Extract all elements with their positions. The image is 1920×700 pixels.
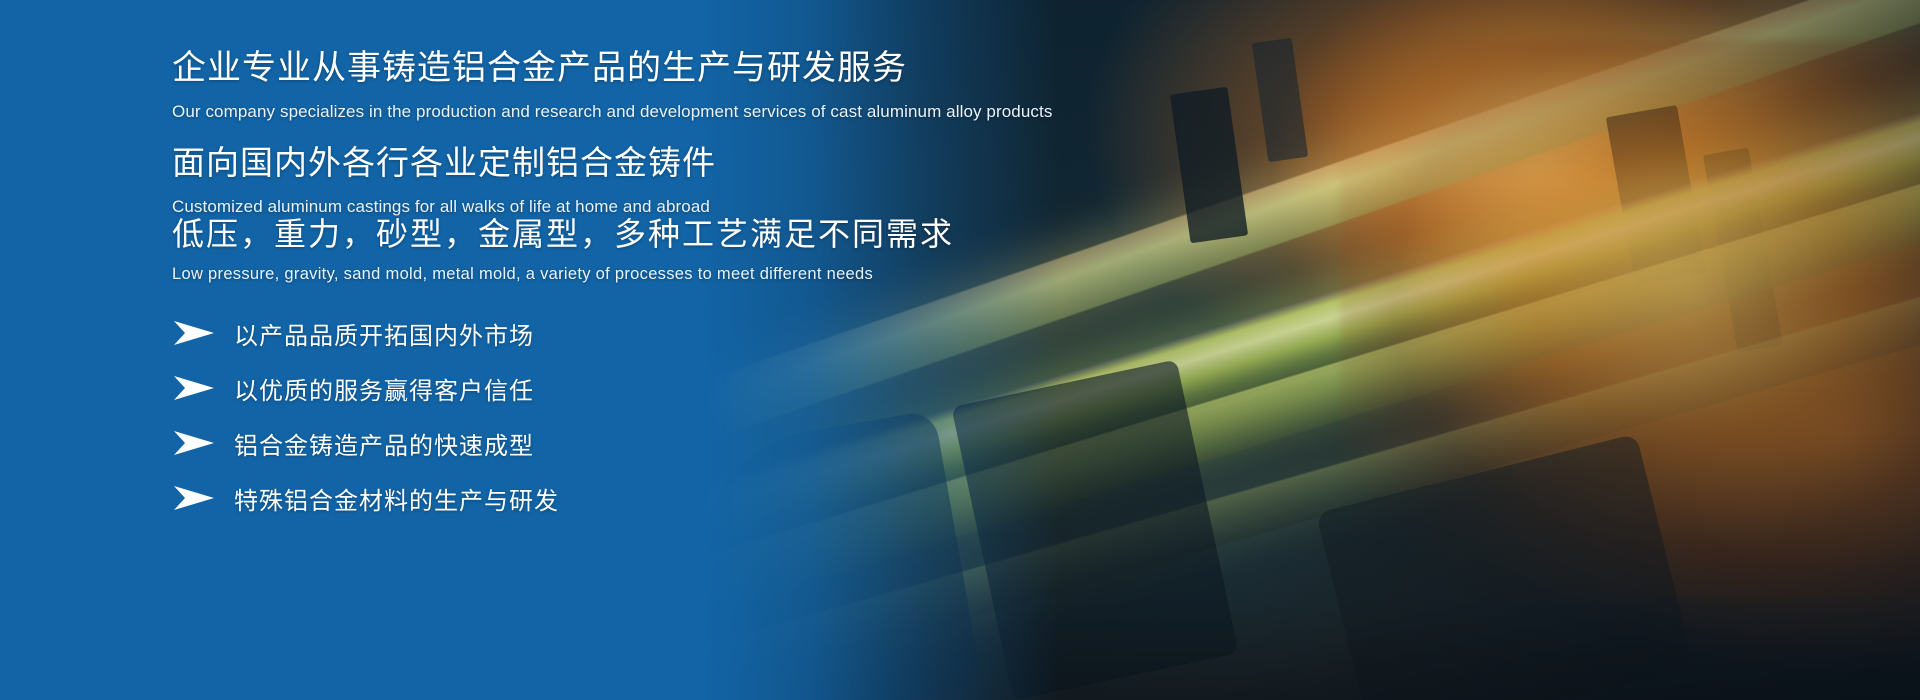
arrow-right-icon — [172, 319, 216, 347]
headline-block-3: 低压，重力，砂型，金属型，多种工艺满足不同需求 Low pressure, gr… — [172, 215, 954, 286]
list-item[interactable]: 以产品品质开拓国内外市场 — [172, 315, 559, 351]
headline-cn-3: 低压，重力，砂型，金属型，多种工艺满足不同需求 — [172, 215, 954, 253]
banner-content: 企业专业从事铸造铝合金产品的生产与研发服务 Our company specia… — [172, 0, 1352, 700]
arrow-right-icon — [172, 484, 216, 512]
headline-en-3: Low pressure, gravity, sand mold, metal … — [172, 264, 954, 285]
hero-banner: 企业专业从事铸造铝合金产品的生产与研发服务 Our company specia… — [0, 0, 1920, 700]
arrow-right-icon — [172, 429, 216, 457]
list-item-label: 以优质的服务赢得客户信任 — [234, 371, 534, 406]
headline-cn-2: 面向国内外各行各业定制铝合金铸件 — [172, 143, 716, 183]
headline-cn-1: 企业专业从事铸造铝合金产品的生产与研发服务 — [172, 48, 1052, 89]
list-item[interactable]: 特殊铝合金材料的生产与研发 — [172, 480, 559, 516]
arrow-right-icon — [172, 374, 216, 402]
list-item-label: 特殊铝合金材料的生产与研发 — [234, 481, 559, 516]
list-item-label: 以产品品质开拓国内外市场 — [234, 316, 534, 351]
headline-block-1: 企业专业从事铸造铝合金产品的生产与研发服务 Our company specia… — [172, 48, 1052, 123]
list-item-label: 铝合金铸造产品的快速成型 — [234, 426, 534, 461]
headline-en-1: Our company specializes in the productio… — [172, 101, 1052, 123]
headline-block-2: 面向国内外各行各业定制铝合金铸件 Customized aluminum cas… — [172, 143, 716, 218]
list-item[interactable]: 以优质的服务赢得客户信任 — [172, 370, 559, 406]
feature-bullet-list: 以产品品质开拓国内外市场 以优质的服务赢得客户信任 铝合金铸造产品的快速成型 特… — [172, 315, 559, 516]
list-item[interactable]: 铝合金铸造产品的快速成型 — [172, 425, 559, 461]
